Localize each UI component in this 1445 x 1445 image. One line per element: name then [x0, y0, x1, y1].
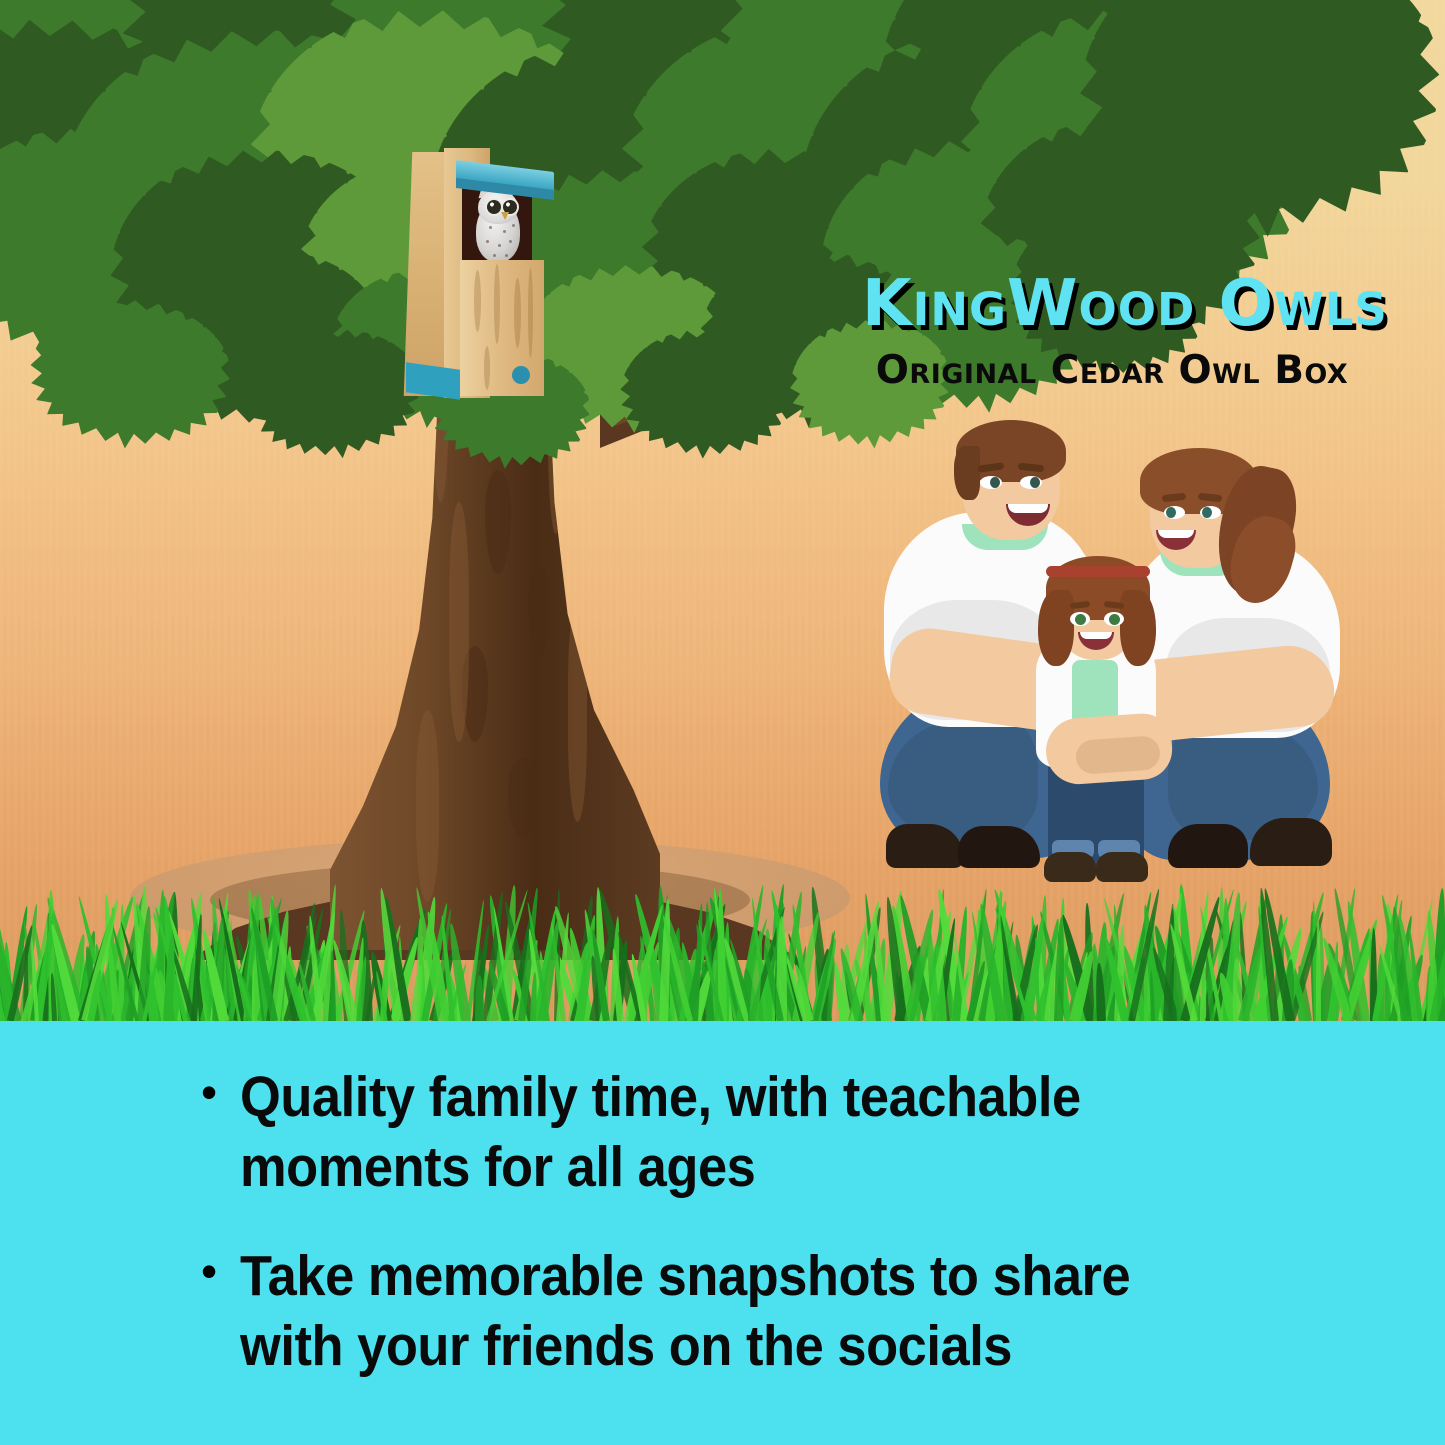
father-hair-side — [954, 446, 980, 500]
bullet-text: Quality family time, with teachable mome… — [240, 1063, 1215, 1202]
bullet-text: Take memorable snapshots to share with y… — [240, 1242, 1215, 1381]
father-teeth — [1008, 504, 1048, 513]
logo-title: KingWood Owls — [862, 272, 1362, 336]
illustration-scene: KingWood Owls Original Cedar Owl Box — [0, 0, 1445, 1021]
owl-beak — [501, 212, 509, 220]
daughter-pupil-right — [1109, 614, 1120, 625]
bullet-item: •Take memorable snapshots to share with … — [70, 1242, 1375, 1381]
mother-pupil-left — [1166, 507, 1176, 518]
mother-teeth — [1158, 530, 1194, 538]
grass-field — [0, 880, 1445, 1021]
bullet-marker-icon: • — [198, 1063, 220, 1121]
brand-logo: KingWood Owls Original Cedar Owl Box — [862, 272, 1362, 393]
father-pupil-left — [990, 477, 1000, 488]
promo-graphic: KingWood Owls Original Cedar Owl Box •Qu… — [0, 0, 1445, 1445]
family-illustration — [880, 420, 1350, 960]
daughter-pupil-left — [1075, 614, 1086, 625]
owl-box-front-panel — [460, 260, 544, 396]
bullet-marker-icon: • — [198, 1242, 220, 1300]
father-pupil-right — [1030, 477, 1040, 488]
daughter-headband — [1046, 566, 1150, 577]
bullet-list: •Quality family time, with teachable mom… — [0, 1021, 1445, 1445]
owl-box-knob — [512, 366, 530, 384]
screech-owl — [472, 188, 524, 270]
mother-shoe-right — [1250, 818, 1332, 866]
logo-subtitle: Original Cedar Owl Box — [862, 348, 1362, 393]
clasped-hands-shade — [1075, 735, 1161, 775]
daughter-shoe-right — [1096, 852, 1148, 882]
feature-bullets-band: •Quality family time, with teachable mom… — [0, 1021, 1445, 1445]
daughter-teeth — [1080, 632, 1112, 639]
mother-shoe-left — [1168, 824, 1248, 868]
owl-head — [478, 190, 518, 224]
mother-pupil-right — [1202, 507, 1212, 518]
father-shoe-right — [958, 826, 1040, 868]
father-leg-shade — [888, 720, 1038, 840]
daughter-hair-right — [1120, 590, 1156, 666]
daughter-hair-left — [1038, 590, 1074, 666]
cedar-owl-box — [404, 148, 550, 400]
owl-eye-left — [487, 200, 501, 214]
bullet-item: •Quality family time, with teachable mom… — [70, 1063, 1375, 1202]
daughter-shoe-left — [1044, 852, 1096, 882]
